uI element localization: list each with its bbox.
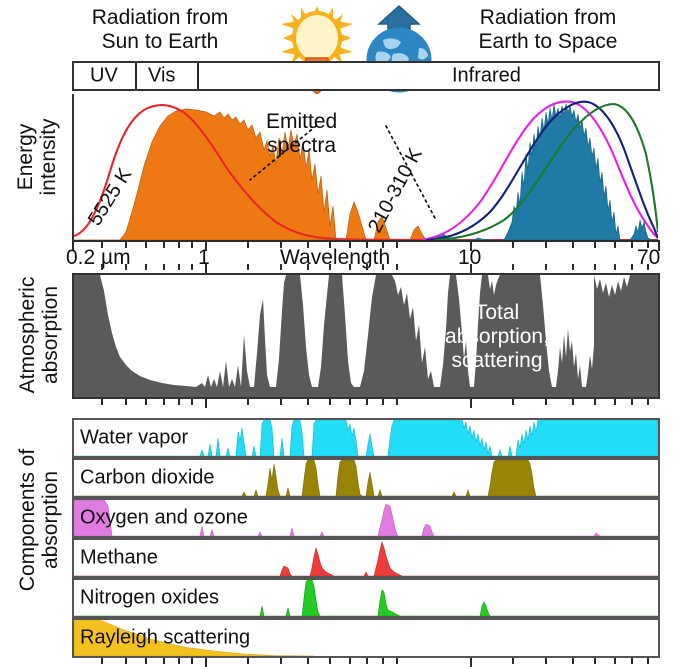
component-row-methane: Methane xyxy=(72,538,660,578)
components-ylabel-line1: Components of xyxy=(16,449,39,591)
components-ylabel: Components of absorption xyxy=(16,410,62,630)
component-label-methane: Methane xyxy=(80,547,158,570)
atmospheric-absorption-jagged-top xyxy=(594,275,634,397)
header-left-caption: Radiation from Sun to Earth xyxy=(60,6,260,54)
atmospheric-top-ticks xyxy=(72,264,660,273)
earth-thermal-area xyxy=(426,104,658,240)
component-label-water-vapor: Water vapor xyxy=(80,427,188,450)
component-label-oxygen-ozone: Oxygen and ozone xyxy=(80,507,248,530)
band-label-vis: Vis xyxy=(148,65,175,88)
band-label-uv: UV xyxy=(90,65,118,88)
component-label-nitrogen-oxides: Nitrogen oxides xyxy=(80,587,219,610)
atmospheric-ylabel: Atmospheric absorption xyxy=(16,270,62,400)
atmospheric-bottom-ticks xyxy=(72,399,660,408)
emitted-spectra-label: Emitted spectra xyxy=(266,110,337,158)
component-label-rayleigh-scattering: Rayleigh scattering xyxy=(80,627,250,650)
component-row-carbon-dioxide: Carbon dioxide xyxy=(72,458,660,498)
header-right-line2: Earth to Space xyxy=(432,30,664,54)
components-bottom-ticks xyxy=(72,658,660,667)
energy-ylabel: Energy intensity xyxy=(14,82,60,232)
header-left-line1: Radiation from xyxy=(60,6,260,30)
header-left-line2: Sun to Earth xyxy=(60,30,260,54)
components-ylabel-line2: absorption xyxy=(39,471,62,569)
atmospheric-absorption-plot: Total absorption, scattering xyxy=(72,273,660,399)
emitted-spectra-line2: spectra xyxy=(267,134,336,157)
spectrum-band: UV Vis Infrared xyxy=(72,61,660,91)
component-row-rayleigh-scattering: Rayleigh scattering xyxy=(72,618,660,658)
methane-spectrum xyxy=(74,540,658,576)
component-row-oxygen-ozone: Oxygen and ozone xyxy=(72,498,660,538)
component-row-nitrogen-oxides: Nitrogen oxides xyxy=(72,578,660,618)
atmospheric-absorption-right-block xyxy=(634,275,658,397)
header-right-caption: Radiation from Earth to Space xyxy=(432,6,664,54)
total-absorption-line2: absorption, xyxy=(445,325,549,348)
energy-ylabel-line1: Energy xyxy=(14,124,37,191)
total-absorption-line1: Total xyxy=(475,301,519,324)
energy-spectra-svg xyxy=(74,94,658,240)
band-divider-uv-vis xyxy=(135,63,137,89)
component-label-carbon-dioxide: Carbon dioxide xyxy=(80,467,215,490)
atmospheric-ylabel-line2: absorption xyxy=(39,286,62,384)
component-row-water-vapor: Water vapor xyxy=(72,418,660,458)
total-absorption-note: Total absorption, scattering xyxy=(402,301,592,373)
total-absorption-line3: scattering xyxy=(451,349,542,372)
energy-ylabel-line2: intensity xyxy=(37,118,60,195)
band-divider-vis-ir xyxy=(197,63,199,89)
emitted-spectra-line1: Emitted xyxy=(266,110,337,133)
header-right-line1: Radiation from xyxy=(432,6,664,30)
band-label-infrared: Infrared xyxy=(452,65,521,88)
atmospheric-ylabel-line1: Atmospheric xyxy=(16,277,39,394)
